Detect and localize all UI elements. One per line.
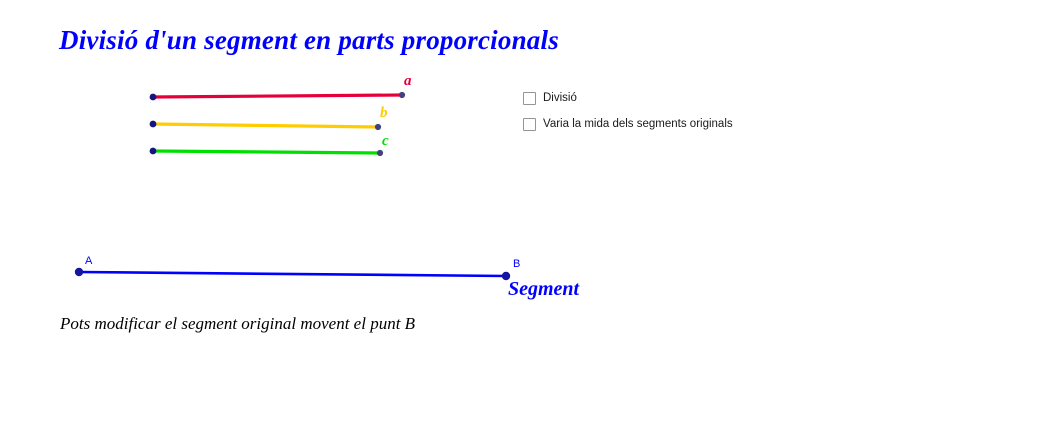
checkbox-divisio[interactable]: Divisió	[523, 92, 577, 105]
point-a-label: A	[85, 256, 92, 267]
point-b-label: B	[513, 259, 520, 270]
checkbox-divisio-box[interactable]	[523, 92, 536, 105]
segment-c-line[interactable]	[153, 151, 380, 153]
hint-text: Pots modificar el segment original moven…	[60, 315, 415, 332]
segment-a-label: a	[404, 74, 412, 89]
main-segment-caption: Segment	[508, 279, 579, 299]
checkbox-divisio-label: Divisió	[543, 93, 577, 105]
segment-a-line[interactable]	[153, 95, 402, 97]
segment-b-endpoint-left[interactable]	[150, 121, 157, 128]
checkbox-varia-mida-box[interactable]	[523, 118, 536, 131]
segment-c-label: c	[382, 134, 389, 149]
main-segment-line[interactable]	[79, 272, 506, 276]
checkbox-varia-mida-label: Varia la mida dels segments originals	[543, 119, 733, 131]
geogebra-applet: Divisió d'un segment en parts proporcion…	[0, 0, 1040, 446]
geometry-canvas[interactable]	[0, 0, 1040, 446]
checkbox-varia-mida[interactable]: Varia la mida dels segments originals	[523, 118, 733, 131]
segment-b-endpoint-right[interactable]	[375, 124, 381, 130]
segment-b-label: b	[380, 106, 388, 121]
segment-c-endpoint-right[interactable]	[377, 150, 383, 156]
segment-a-endpoint-left[interactable]	[150, 94, 157, 101]
segment-b-line[interactable]	[153, 124, 378, 127]
segment-a-endpoint-right[interactable]	[399, 92, 405, 98]
segment-c-endpoint-left[interactable]	[150, 148, 157, 155]
point-a-handle[interactable]	[75, 268, 83, 276]
